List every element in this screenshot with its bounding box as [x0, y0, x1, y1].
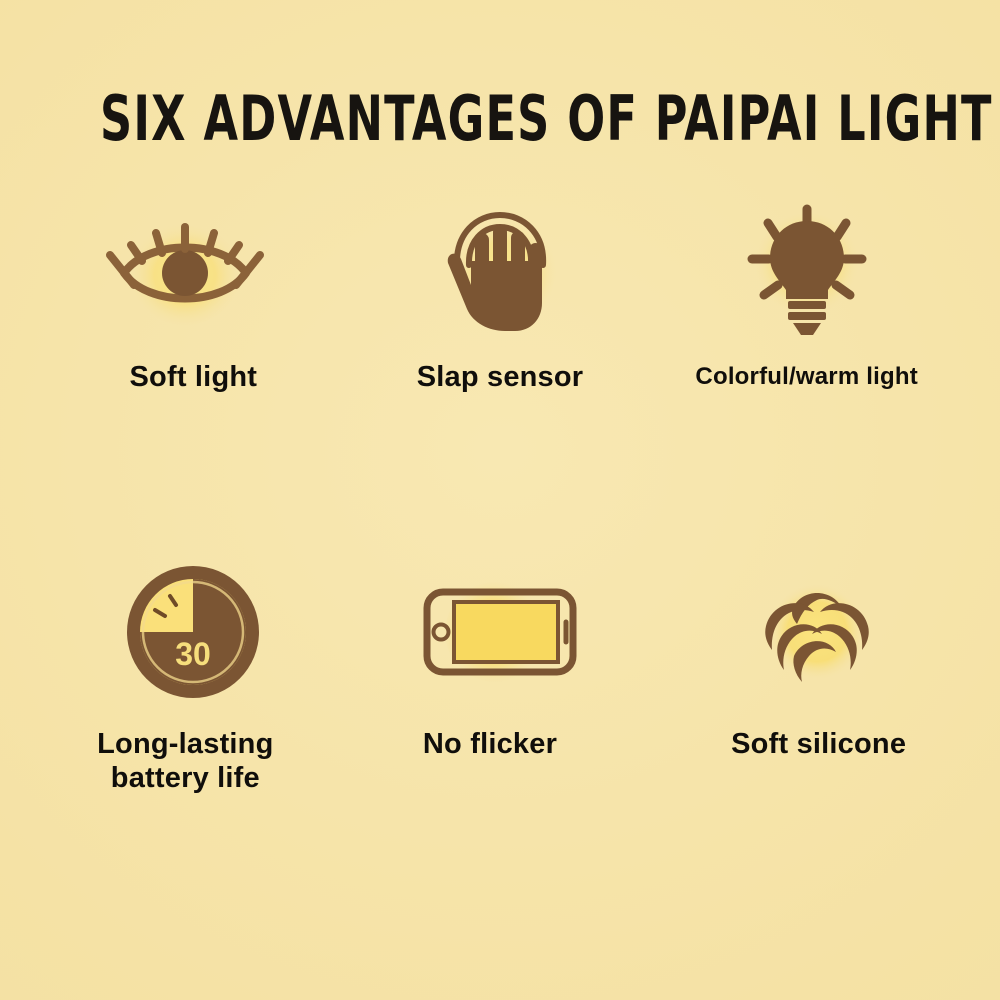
feature-label-block: Long-lasting battery life [97, 728, 273, 796]
page-title: SIX ADVANTAGES OF PAIPAI LIGHT [100, 86, 900, 151]
phone-icon [405, 560, 595, 710]
lightbulb-icon [712, 193, 902, 343]
feature-label-line1: Long-lasting [97, 728, 273, 762]
feature-label: Soft silicone [731, 728, 906, 762]
lightbulb-icon-wrap [712, 193, 902, 343]
feature-item-battery-life: 30 Long-lasting battery life [40, 505, 347, 825]
cloud-icon [722, 560, 912, 710]
feature-label: Soft light [130, 361, 258, 395]
feature-item-no-flicker: No flicker [347, 505, 654, 825]
eye-icon-wrap [90, 193, 280, 343]
feature-grid: Soft light [40, 185, 960, 825]
promo-poster: SIX ADVANTAGES OF PAIPAI LIGHT [0, 0, 1000, 1000]
phone-icon-wrap [405, 560, 595, 710]
eye-icon [90, 193, 280, 343]
feature-item-soft-light: Soft light [40, 185, 347, 505]
feature-label: Colorful/warm light [695, 363, 917, 391]
feature-label: Slap sensor [417, 361, 584, 395]
timer-icon: 30 [98, 560, 288, 710]
timer-icon-wrap: 30 [98, 560, 288, 710]
feature-label-line2: battery life [97, 762, 273, 796]
feature-label: No flicker [423, 728, 557, 762]
timer-value: 30 [176, 636, 212, 672]
feature-item-colorful-warm-light: Colorful/warm light [653, 185, 960, 505]
feature-item-soft-silicone: Soft silicone [653, 505, 960, 825]
hand-icon-wrap [405, 193, 595, 343]
feature-item-slap-sensor: Slap sensor [347, 185, 654, 505]
hand-icon [405, 193, 595, 343]
cloud-icon-wrap [722, 560, 912, 710]
